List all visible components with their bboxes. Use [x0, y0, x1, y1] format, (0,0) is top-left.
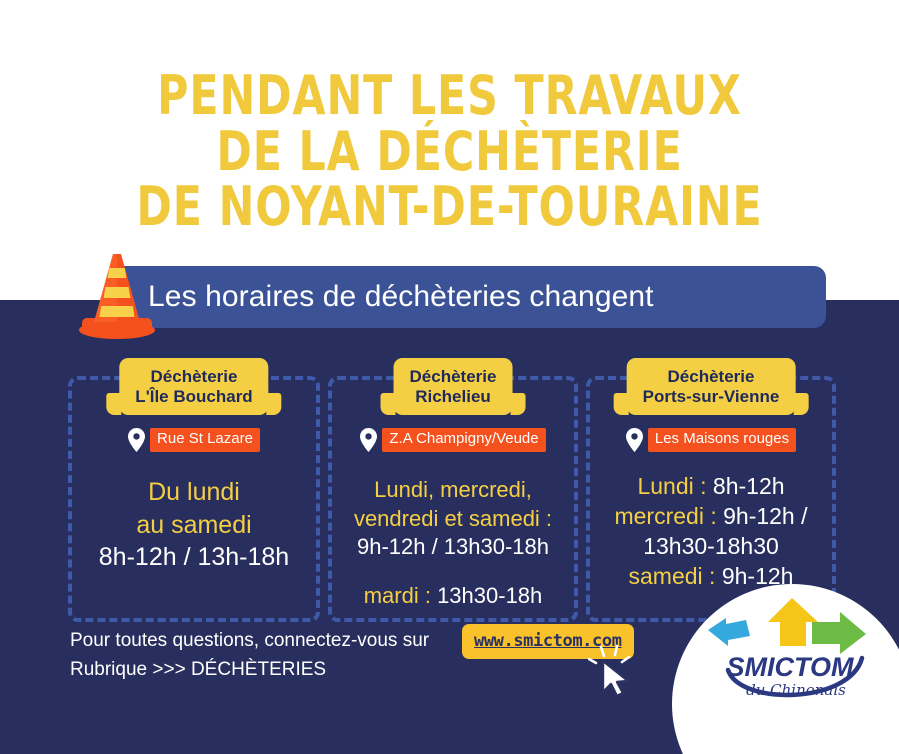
card-hours: Du lundi au samedi 8h-12h / 13h-18h — [72, 476, 316, 574]
card-hours: Lundi : 8h-12h mercredi : 9h-12h / 13h30… — [590, 472, 832, 592]
hours-line: Du lundi — [72, 476, 316, 509]
hours-time: 13h30-18h30 — [643, 533, 779, 559]
banner-label: Les horaires de déchèteries changent — [148, 280, 654, 314]
hours-line: Lundi : 8h-12h — [590, 472, 832, 502]
hours-line: 8h-12h / 13h-18h — [72, 541, 316, 574]
schedule-change-banner: Les horaires de déchèteries changent — [112, 266, 826, 328]
card-title-line1: Déchèterie — [668, 367, 755, 386]
hours-day: vendredi et samedi : — [354, 506, 552, 531]
hours-day: mercredi : — [614, 503, 716, 529]
hours-time: 8h-12h — [707, 473, 785, 499]
logo-arrow-yellow — [768, 598, 818, 646]
hours-line: 13h30-18h30 — [590, 532, 832, 562]
hours-line: 9h-12h / 13h30-18h — [332, 533, 574, 562]
card-title-tab: Déchèterie L'Île Bouchard — [119, 358, 268, 415]
smictom-logo: SMICTOM du Chinonais — [700, 596, 884, 708]
map-pin-icon — [626, 428, 643, 452]
map-pin-icon — [128, 428, 145, 452]
card-title-tab: Déchèterie Ports-sur-Vienne — [627, 358, 796, 415]
card-title-line2: Richelieu — [415, 387, 491, 406]
hours-day: samedi : — [629, 563, 716, 589]
hours-day: mardi : — [364, 583, 431, 608]
decheterie-card: Déchèterie L'Île Bouchard Rue St Lazare … — [68, 376, 320, 622]
logo-arrow-blue — [708, 618, 750, 646]
location-row: Z.A Champigny/Veude — [332, 428, 574, 452]
hours-day: Lundi, mercredi, — [374, 477, 532, 502]
hours-line: mardi : 13h30-18h — [332, 582, 574, 611]
hours-day: Du lundi — [148, 478, 240, 506]
title-line-1: PENDANT LES TRAVAUX — [54, 68, 845, 124]
hours-day: Lundi : — [637, 473, 706, 499]
traffic-cone-icon — [74, 248, 160, 340]
hours-line: vendredi et samedi : — [332, 505, 574, 534]
hours-spacer — [332, 562, 574, 582]
location-badge: Z.A Champigny/Veude — [382, 428, 545, 452]
title-line-2: DE LA DÉCHÈTERIE — [54, 124, 845, 180]
poster-root: PENDANT LES TRAVAUX DE LA DÉCHÈTERIE DE … — [0, 0, 899, 754]
location-badge: Rue St Lazare — [150, 428, 260, 452]
location-badge: Les Maisons rouges — [648, 428, 796, 452]
hours-time: 8h-12h / 13h-18h — [99, 543, 289, 571]
location-row: Rue St Lazare — [72, 428, 316, 452]
card-title-line2: Ports-sur-Vienne — [643, 387, 780, 406]
mouse-cursor-icon — [588, 642, 642, 698]
hours-line: mercredi : 9h-12h / — [590, 502, 832, 532]
hours-day: au samedi — [136, 511, 251, 539]
card-title-line1: Déchèterie — [151, 367, 238, 386]
decheterie-card: Déchèterie Richelieu Z.A Champigny/Veude… — [328, 376, 578, 622]
card-title-tab: Déchèterie Richelieu — [394, 358, 513, 415]
card-hours: Lundi, mercredi, vendredi et samedi : 9h… — [332, 476, 574, 610]
hours-time: 9h-12h / — [717, 503, 808, 529]
hours-line: Lundi, mercredi, — [332, 476, 574, 505]
card-title-line1: Déchèterie — [410, 367, 497, 386]
logo-wordmark: SMICTOM — [727, 652, 855, 682]
hours-time: 9h-12h / 13h30-18h — [357, 534, 549, 559]
hours-time: 13h30-18h — [431, 583, 542, 608]
hours-line: au samedi — [72, 509, 316, 542]
logo-arrow-green — [812, 612, 866, 654]
page-title: PENDANT LES TRAVAUX DE LA DÉCHÈTERIE DE … — [0, 68, 899, 235]
map-pin-icon — [360, 428, 377, 452]
decheterie-cards: Déchèterie L'Île Bouchard Rue St Lazare … — [0, 376, 899, 622]
title-line-3: DE NOYANT-DE-TOURAINE — [54, 179, 845, 235]
location-row: Les Maisons rouges — [590, 428, 832, 452]
card-title-line2: L'Île Bouchard — [135, 387, 252, 406]
